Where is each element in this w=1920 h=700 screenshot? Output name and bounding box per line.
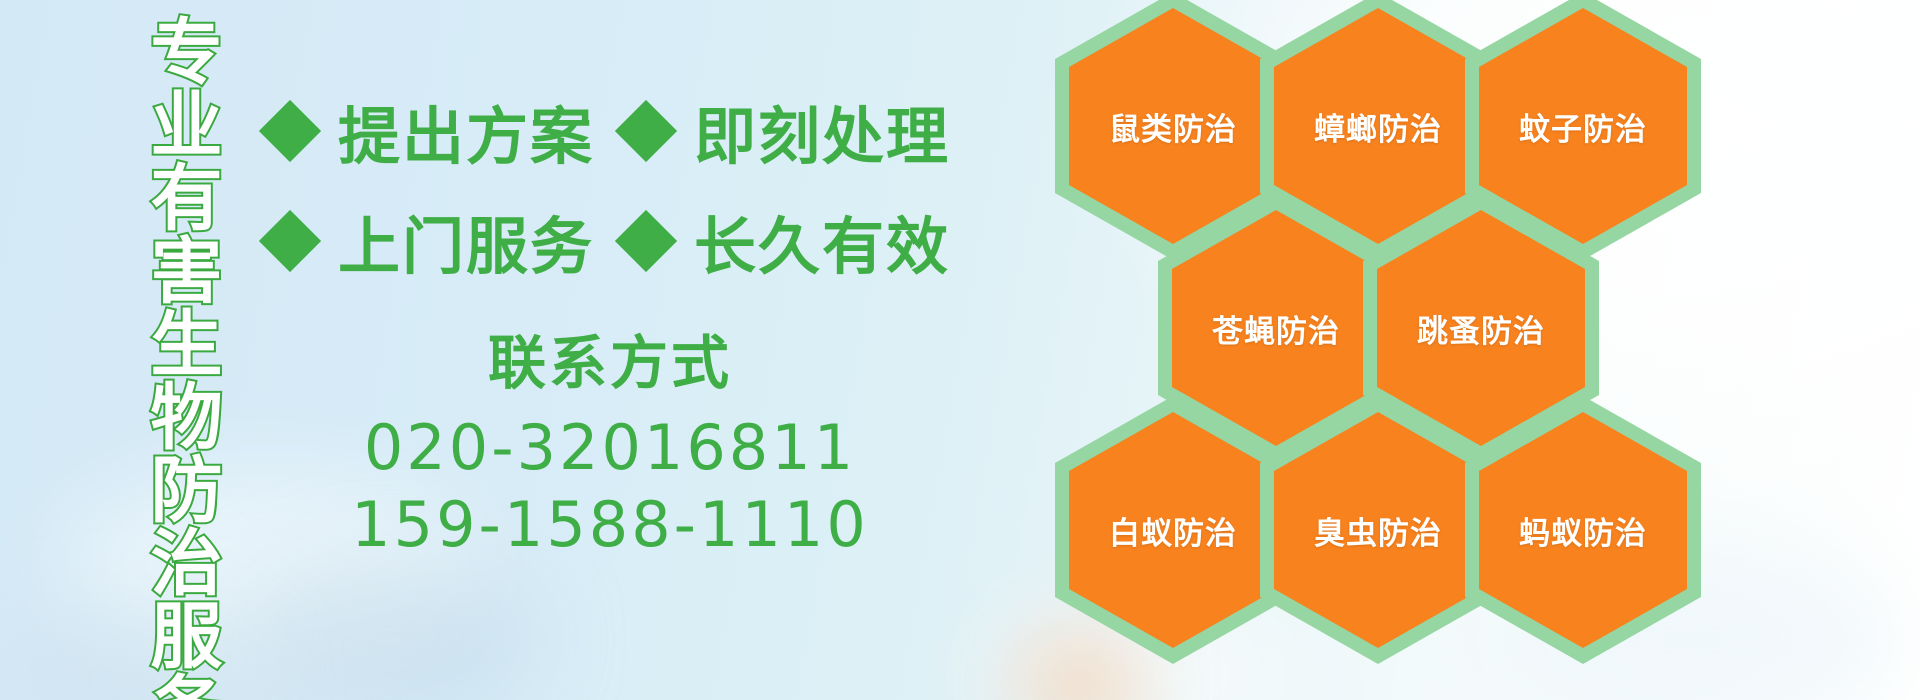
hexagon-inner-fill: 臭虫防治 bbox=[1274, 412, 1482, 648]
background-blur-blob bbox=[240, 560, 540, 700]
service-hexagon-grid: 鼠类防治 蟑螂防治 蚊子防治 苍蝇防治 跳蚤防治 白蚁防治 bbox=[1055, 0, 1795, 700]
service-label: 跳蚤防治 bbox=[1417, 306, 1545, 351]
service-label: 蟑螂防治 bbox=[1314, 104, 1442, 149]
hexagon-inner-fill: 蟑螂防治 bbox=[1274, 8, 1482, 244]
contact-heading: 联系方式 bbox=[300, 330, 920, 397]
service-label: 蚂蚁防治 bbox=[1519, 508, 1647, 553]
service-label: 臭虫防治 bbox=[1314, 508, 1442, 553]
service-label: 鼠类防治 bbox=[1109, 104, 1237, 149]
hexagon-inner-fill: 鼠类防治 bbox=[1069, 8, 1277, 244]
contact-phone-mobile[interactable]: 159-1588-1110 bbox=[300, 486, 920, 564]
hexagon-inner-fill: 蚂蚁防治 bbox=[1479, 412, 1687, 648]
contact-phone-landline[interactable]: 020-32016811 bbox=[300, 409, 920, 487]
feature-label-on-site-service: 上门服务 bbox=[338, 196, 594, 286]
diamond-icon bbox=[615, 210, 677, 272]
hexagon-inner-fill: 白蚁防治 bbox=[1069, 412, 1277, 648]
contact-block: 联系方式 020-32016811 159-1588-1110 bbox=[300, 330, 920, 564]
service-label: 蚊子防治 bbox=[1519, 104, 1647, 149]
hexagon-inner-fill: 跳蚤防治 bbox=[1377, 210, 1585, 446]
service-label: 白蚁防治 bbox=[1109, 508, 1237, 553]
feature-label-long-lasting: 长久有效 bbox=[694, 196, 950, 286]
feature-label-immediate-handling: 即刻处理 bbox=[694, 86, 950, 176]
diamond-icon bbox=[259, 100, 321, 162]
pest-control-banner: 专业有害生物防治服务 提出方案 即刻处理 上门服务 长久有效 联系方式 020-… bbox=[0, 0, 1920, 700]
diamond-icon bbox=[615, 100, 677, 162]
hexagon-inner-fill: 苍蝇防治 bbox=[1172, 210, 1380, 446]
feature-line-1: 提出方案 即刻处理 bbox=[268, 86, 950, 176]
vertical-headline: 专业有害生物防治服务 bbox=[112, 14, 216, 700]
hexagon-inner-fill: 蚊子防治 bbox=[1479, 8, 1687, 244]
diamond-icon bbox=[259, 210, 321, 272]
feature-line-2: 上门服务 长久有效 bbox=[268, 196, 950, 286]
feature-label-propose-plan: 提出方案 bbox=[338, 86, 594, 176]
service-label: 苍蝇防治 bbox=[1212, 306, 1340, 351]
